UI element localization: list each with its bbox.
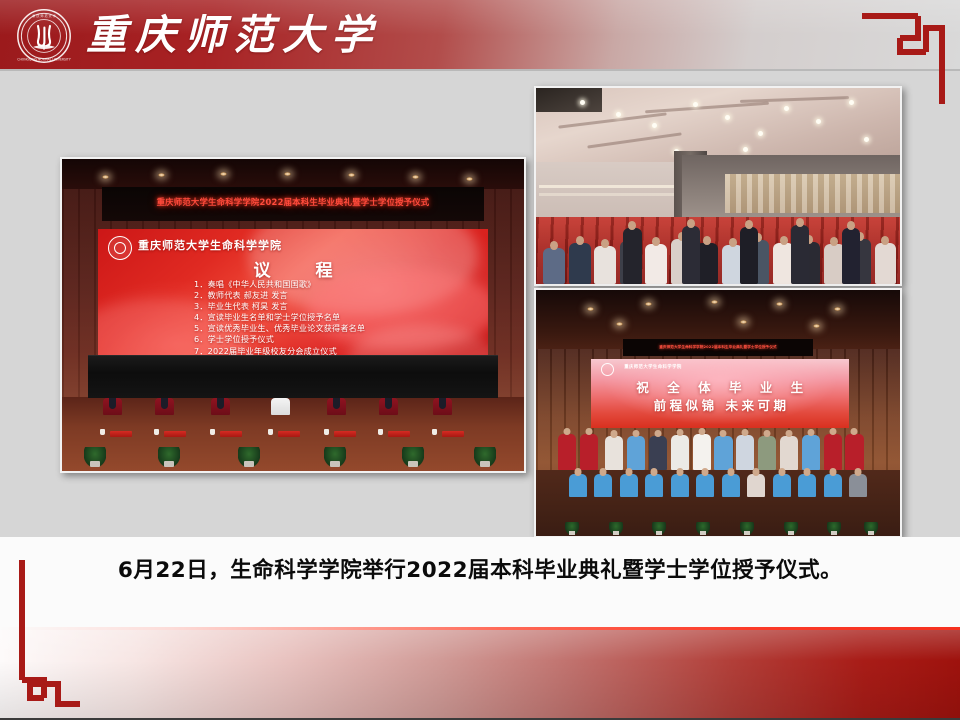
school-name-title: 重庆师范大学: [86, 5, 380, 65]
group-screen-line-2: 前程似锦 未来可期: [591, 395, 849, 414]
header-divider: [0, 69, 960, 71]
agenda-item: 3．毕业生代表 柯昊 发言: [194, 301, 480, 312]
agenda-item: 6．学士学位授予仪式: [194, 334, 480, 345]
group-screen-organization: 重庆师范大学生命科学学院: [624, 364, 682, 370]
group-stage-screen: 重庆师范大学生命科学学院 祝 全 体 毕 业 生 前程似锦 未来可期: [591, 359, 849, 428]
agenda-item: 5．宣读优秀毕业生、优秀毕业论文获得者名单: [194, 323, 480, 334]
stage-led-banner: 重庆师范大学生命科学学院2022届本科生毕业典礼暨学士学位授予仪式: [102, 187, 484, 221]
svg-text:重 庆 师 范 大 学: 重 庆 师 范 大 学: [32, 13, 55, 18]
photo-ceremony-stage: 重庆师范大学生命科学学院2022届本科生毕业典礼暨学士学位授予仪式 重庆师范大学…: [60, 157, 526, 473]
footer-shading: [0, 630, 960, 720]
group-led-banner-text: 重庆师范大学生命科学学院2022届本科生毕业典礼暨学士学位授予仪式: [623, 339, 812, 356]
agenda-item: 4．宣读毕业生名单和学士学位授予名单: [194, 312, 480, 323]
university-seal-icon: 重 庆 师 范 大 学 CHONGQING NORMAL UNIVERSITY: [16, 8, 72, 64]
photo-group-portrait: 重庆师范大学生命科学学院2022届本科生毕业典礼暨学士学位授予仪式 重庆师范大学…: [534, 288, 902, 538]
group-screen-line-1: 祝 全 体 毕 业 生: [591, 377, 849, 396]
agenda-item: 2．教师代表 郝友进 发言: [194, 290, 480, 301]
corner-ornament-bottom-left: [14, 560, 112, 710]
dais-table: [88, 355, 498, 398]
group-back-row: [536, 424, 900, 470]
photo-audience: [534, 86, 902, 286]
screen-agenda-title: 议 程: [98, 256, 488, 281]
presentation-slide: 重 庆 师 范 大 学 CHONGQING NORMAL UNIVERSITY …: [0, 0, 960, 720]
svg-text:CHONGQING NORMAL UNIVERSITY: CHONGQING NORMAL UNIVERSITY: [17, 57, 71, 61]
group-front-row: [536, 465, 900, 497]
slide-caption: 6月22日，生命科学学院举行2022届本科毕业典礼暨学士学位授予仪式。: [0, 553, 960, 584]
standing-audience: [536, 194, 900, 284]
group-screen-seal-icon: [601, 363, 614, 376]
group-led-banner: 重庆师范大学生命科学学院2022届本科生毕业典礼暨学士学位授予仪式: [623, 339, 812, 356]
led-banner-text: 重庆师范大学生命科学学院2022届本科生毕业典礼暨学士学位授予仪式: [102, 196, 484, 208]
stage-ceiling: [62, 159, 524, 189]
screen-organization: 重庆师范大学生命科学学院: [138, 237, 282, 253]
agenda-item: 1．奏唱《中华人民共和国国歌》: [194, 279, 480, 290]
page-header: 重 庆 师 范 大 学 CHONGQING NORMAL UNIVERSITY …: [0, 0, 960, 70]
